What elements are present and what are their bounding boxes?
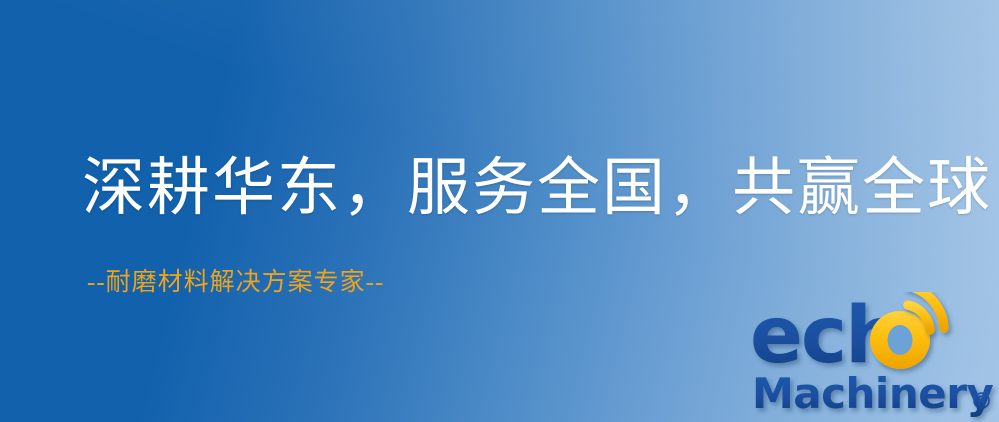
trademark-icon: ® bbox=[970, 389, 993, 415]
hero-banner: 深耕华东，服务全国，共赢全球 --耐磨材料解决方案专家-- bbox=[0, 0, 999, 422]
banner-subtitle: --耐磨材料解决方案专家-- bbox=[87, 268, 384, 298]
logo-letter-o-icon bbox=[870, 311, 930, 369]
logo-subbrand: Machinery ® bbox=[752, 369, 993, 418]
logo-subbrand-text: Machinery bbox=[752, 369, 993, 418]
echo-machinery-logo[interactable]: ech Machinery ® bbox=[748, 292, 999, 422]
logo-graphic: ech Machinery ® bbox=[748, 292, 999, 422]
banner-headline: 深耕华东，服务全国，共赢全球 bbox=[82, 152, 992, 224]
